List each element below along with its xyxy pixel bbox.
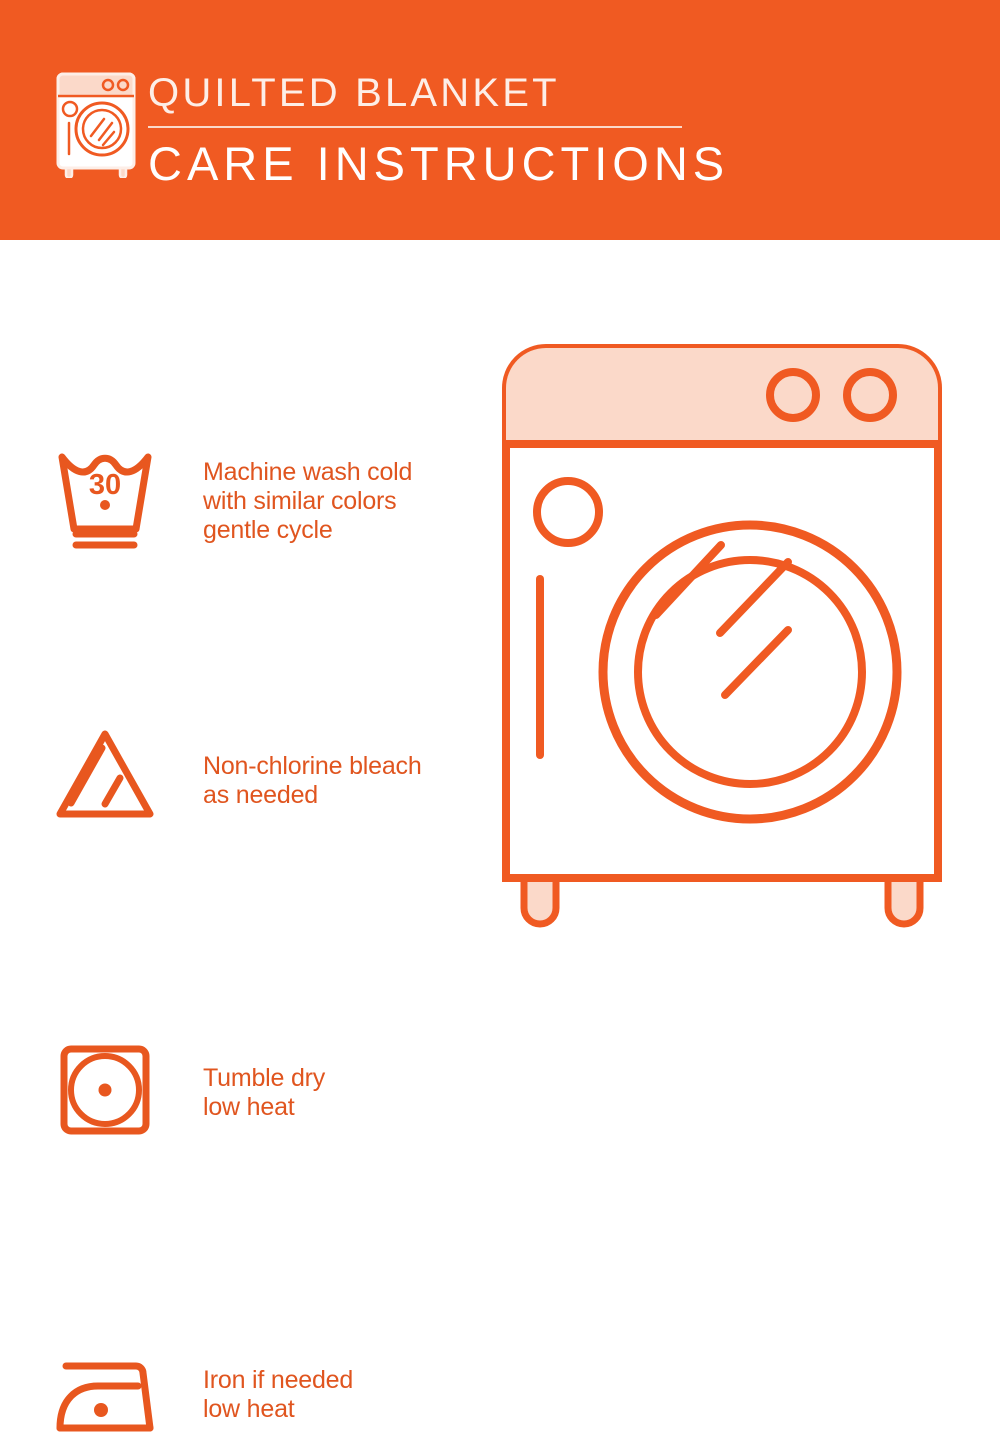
instruction-line: gentle cycle — [203, 516, 412, 545]
instruction-text-tumble-dry: Tumble dry low heat — [203, 1064, 325, 1122]
instruction-line: Non-chlorine bleach — [203, 752, 422, 781]
instruction-line: Iron if needed — [203, 1366, 353, 1395]
page-title: QUILTED BLANKET — [148, 70, 708, 116]
washing-machine-icon — [44, 66, 152, 178]
instruction-line: low heat — [203, 1093, 325, 1122]
page-subtitle: CARE INSTRUCTIONS — [148, 138, 708, 190]
instruction-line: Tumble dry — [203, 1064, 325, 1093]
front-load-washing-machine-illustration — [488, 330, 978, 950]
wash-temperature-label: 30 — [89, 469, 121, 501]
wash-tub-30-gentle-icon: 30 — [46, 435, 164, 553]
care-instructions-list: 30 Machine wash cold with similar colors… — [0, 240, 480, 1000]
header-title-block: QUILTED BLANKET CARE INSTRUCTIONS — [148, 70, 708, 190]
page-header: QUILTED BLANKET CARE INSTRUCTIONS — [0, 0, 1000, 240]
title-divider — [148, 126, 682, 128]
instruction-line: as needed — [203, 781, 422, 810]
instruction-line: Machine wash cold — [203, 458, 412, 487]
tumble-dry-low-heat-icon — [46, 1031, 164, 1149]
instruction-text-iron: Iron if needed low heat — [203, 1366, 353, 1424]
iron-low-heat-icon — [46, 1336, 164, 1454]
instruction-text-wash: Machine wash cold with similar colors ge… — [203, 458, 412, 545]
instruction-line: low heat — [203, 1395, 353, 1424]
instruction-text-bleach: Non-chlorine bleach as needed — [203, 752, 422, 810]
instruction-line: with similar colors — [203, 487, 412, 516]
control-panel — [506, 348, 938, 444]
triangle-non-chlorine-bleach-icon — [46, 718, 164, 836]
